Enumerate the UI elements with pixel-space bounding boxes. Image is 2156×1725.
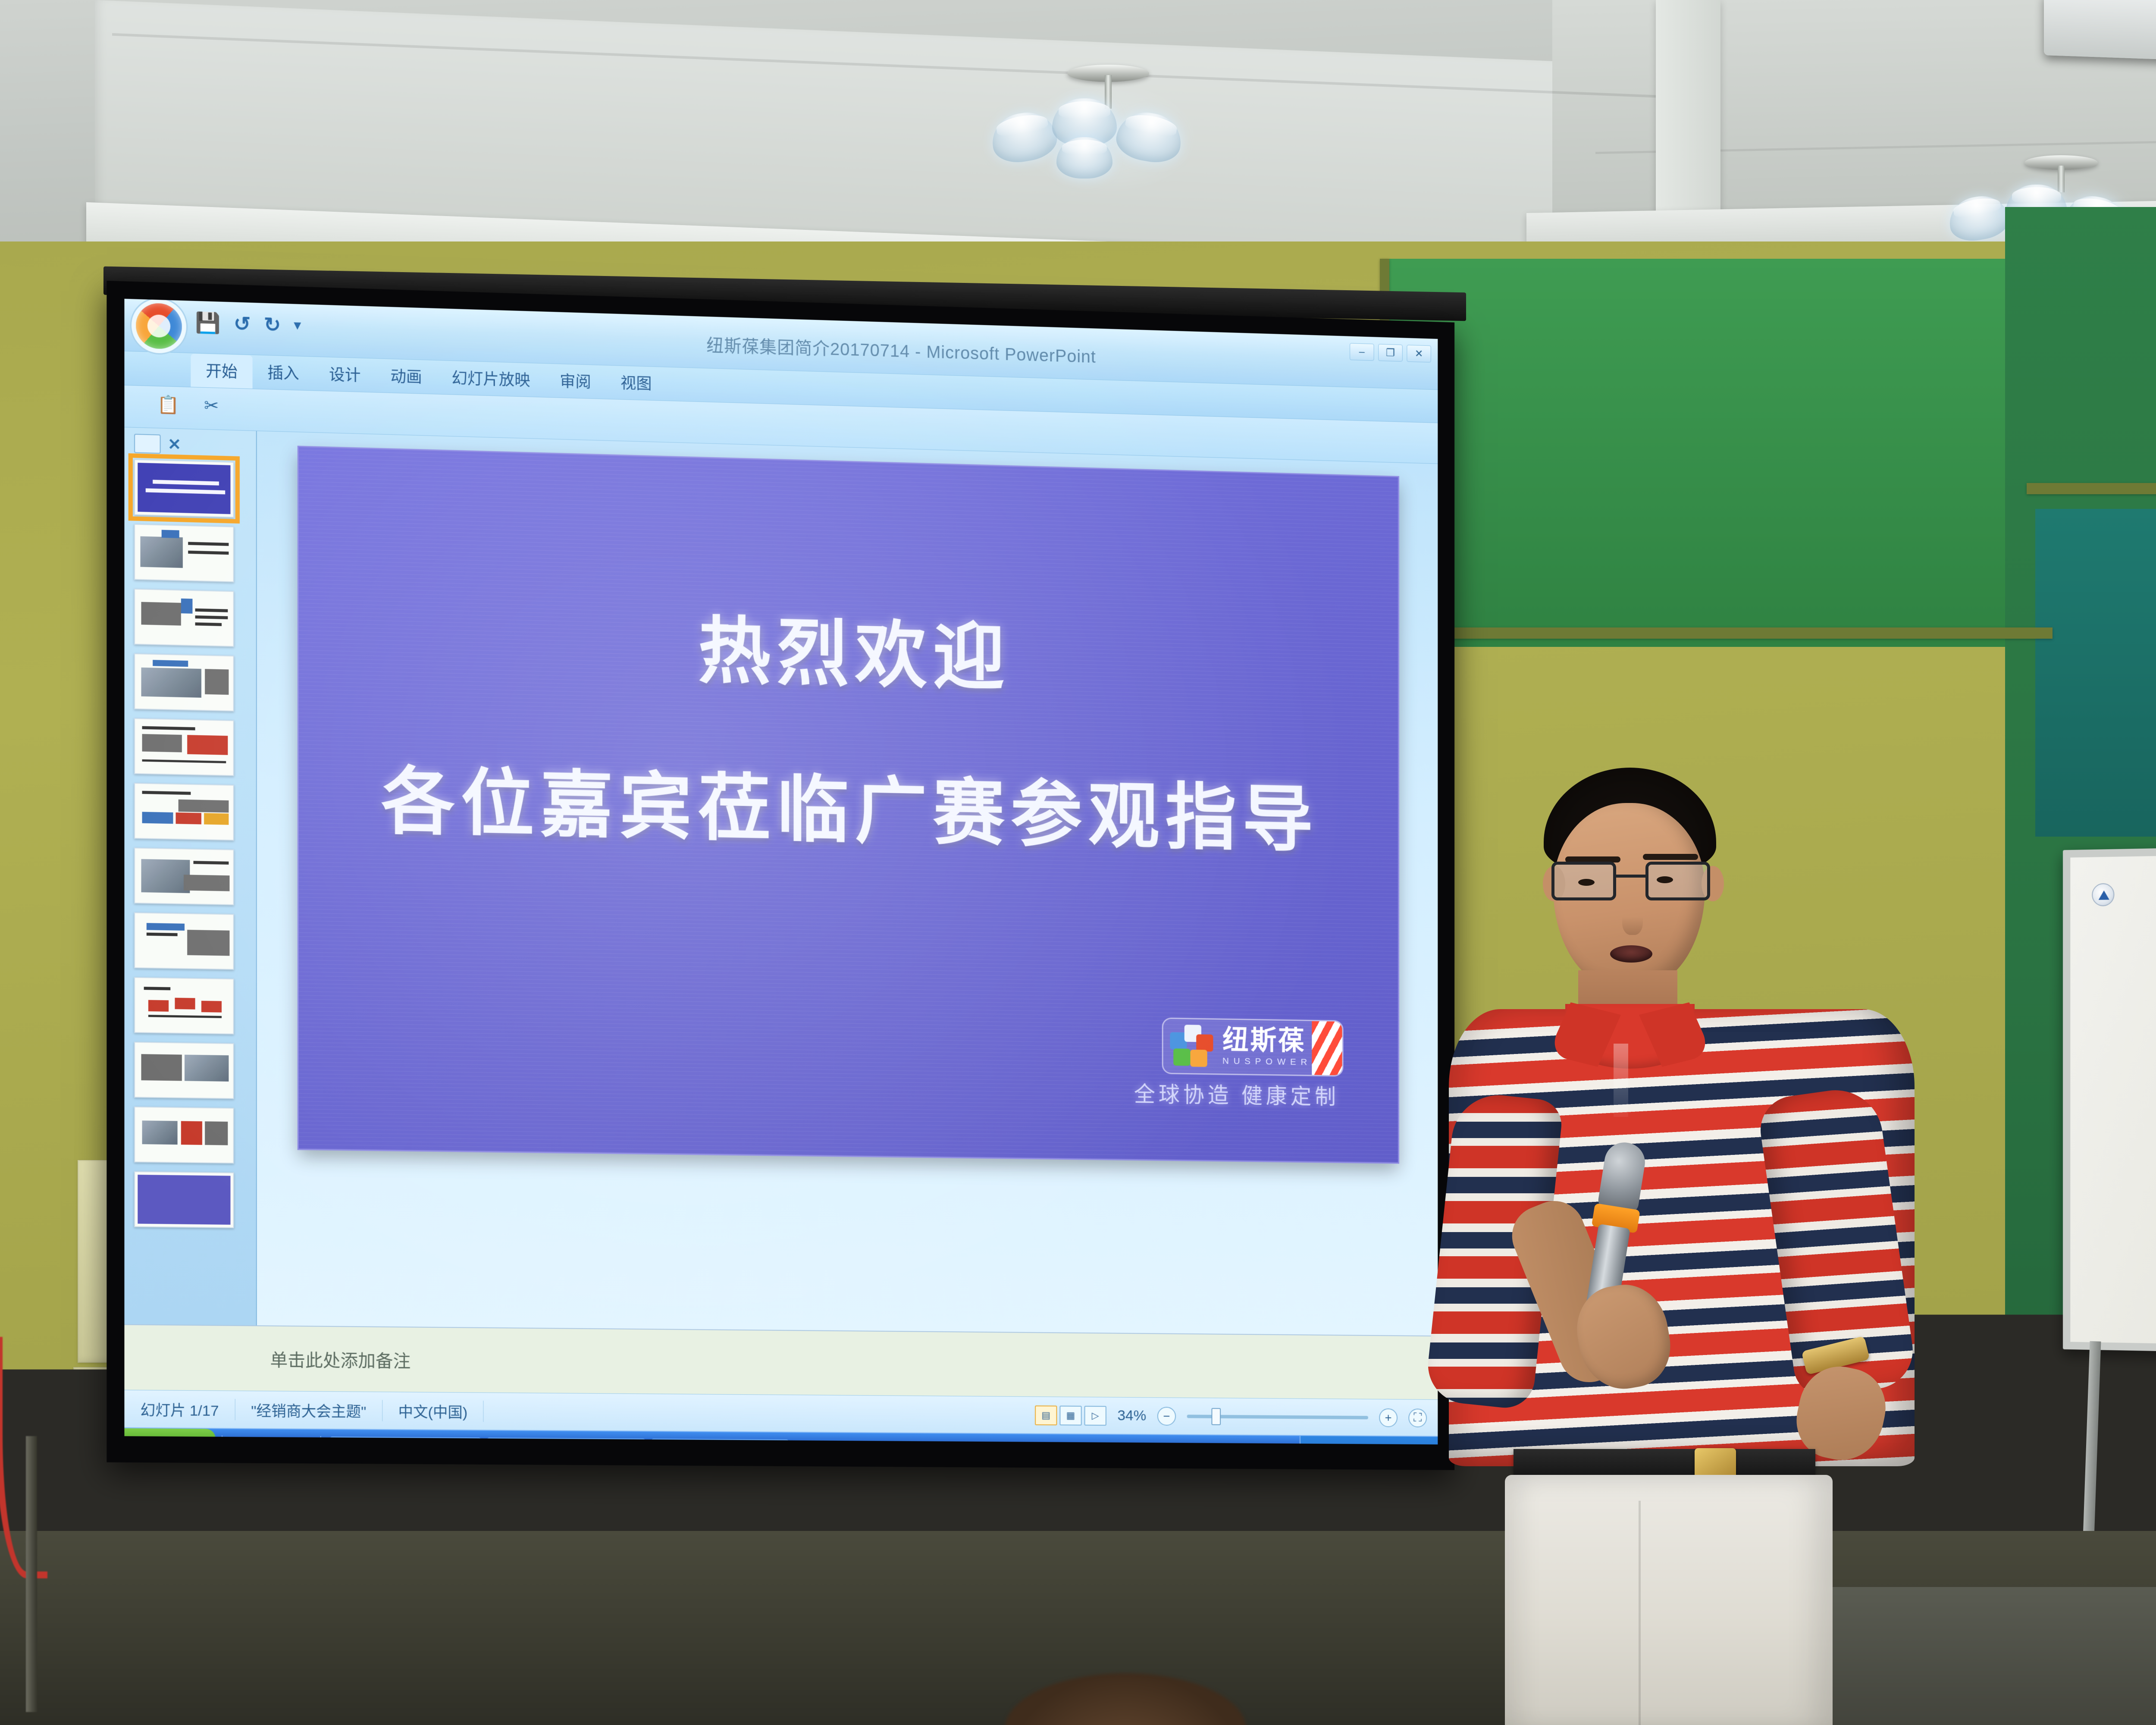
zoom-out-button[interactable]: − [1157,1407,1176,1426]
tab-review[interactable]: 审阅 [545,364,606,398]
taskbar-items: 阿里旺旺 - 主会场 Microsoft PowerP... 搜狗输入法设置 [321,1436,789,1444]
foreground-stand-pole [26,1436,37,1712]
theme-name[interactable]: "经销商大会主题" [235,1399,382,1421]
logo-name-cn: 纽斯葆 [1222,1027,1312,1054]
slideshow-view-button[interactable]: ▷ [1084,1405,1106,1425]
show-desktop-icon[interactable] [261,1440,282,1444]
close-button[interactable]: ✕ [1407,345,1431,362]
presenter-brow-right [1643,854,1698,860]
thumbnail-slide-5[interactable] [134,718,234,776]
presenter-eye-right [1657,876,1673,883]
cut-icon[interactable]: ✂ [204,395,219,416]
presenter-shirt-collar [1565,1004,1695,1069]
taskbar-item-3[interactable]: 搜狗输入法设置 [651,1439,788,1445]
quick-launch-bar [222,1435,321,1444]
taskbar-item-1-icon [342,1443,360,1445]
sidebar-close-icon[interactable]: ✕ [168,435,181,454]
thumbnail-slide-6[interactable] [134,783,234,841]
internet-explorer-icon[interactable] [233,1440,254,1445]
whiteboard-sticker-icon [2092,883,2114,906]
logo-flag-icon [1312,1021,1343,1076]
tab-view[interactable]: 视图 [606,366,667,400]
slide-editing-area[interactable]: 热烈欢迎 各位嘉宾莅临广赛参观指导 纽斯葆 [257,431,1438,1336]
thumbnail-slide-12[interactable] [134,1171,234,1228]
start-button-label: 开始 [163,1437,198,1445]
windows-flag-icon [135,1441,155,1445]
powerpoint-body: ✕ [124,427,1438,1336]
tab-animations[interactable]: 动画 [376,359,437,394]
thumbnail-slide-3[interactable] [134,589,234,647]
presenter-nose [1622,905,1643,935]
puzzle-icon [1170,1025,1216,1068]
zoom-slider[interactable] [1187,1414,1368,1419]
taskbar-item-3-label: 搜狗输入法设置 [686,1443,777,1444]
media-player-icon[interactable] [289,1441,310,1445]
thumbnail-list [134,459,253,1229]
taskbar-item-1-label: 阿里旺旺 - 主会场 [366,1442,469,1445]
start-button[interactable]: 开始 [124,1428,215,1445]
whiteboard-surface[interactable] [2063,840,2156,1359]
projection-screen: 💾 ↺ ↻ ▾ 纽斯葆集团简介20170714 - Microsoft Powe… [107,281,1454,1470]
ceiling-light-left [987,65,1229,203]
thumbnail-slide-4[interactable] [134,653,234,712]
logo-name-en: NUSPOWER [1222,1056,1312,1068]
thumbnail-slide-10[interactable] [134,1042,234,1099]
thumbnail-slide-1[interactable] [134,459,234,518]
thumbnail-slide-11[interactable] [134,1107,234,1164]
ceiling-projector [2044,0,2156,61]
slide-heading-line2: 各位嘉宾莅临广赛参观指导 [299,740,1398,867]
window-controls: – ❐ ✕ [1350,343,1431,362]
thumbnail-slide-9[interactable] [134,977,234,1034]
slide-heading-line1: 热烈欢迎 [299,582,1398,713]
presenter [1436,768,1945,1725]
status-bar-right: ▤ ▦ ▷ 34% − + ⛶ [1035,1405,1438,1428]
zoom-slider-handle[interactable] [1211,1408,1221,1425]
notes-placeholder: 单击此处添加备注 [270,1346,411,1372]
foreground-cable [0,1337,47,1578]
company-logo: 纽斯葆 NUSPOWER [1162,1017,1344,1076]
wall-panel-teal-1 [2035,509,2156,837]
system-tray: 10:17 [1300,1436,1438,1445]
thumbnail-slide-2[interactable] [134,524,234,583]
photo-scene: 休息室 Lounge 💾 ↺ ↻ [0,0,2156,1725]
thumbnail-slide-7[interactable] [134,847,234,905]
taskbar-item-2-icon [498,1443,516,1445]
presenter-trousers [1505,1475,1833,1725]
zoom-level: 34% [1117,1407,1146,1424]
language-indicator[interactable]: 中文(中国) [382,1400,484,1422]
paste-icon[interactable]: 📋 [157,394,179,415]
whiteboard [2057,845,2156,1397]
logo-tagline: 全球协造 健康定制 [1134,1077,1339,1110]
taskbar-item-2[interactable]: Microsoft PowerP... [487,1438,645,1445]
fit-to-window-button[interactable]: ⛶ [1408,1408,1427,1427]
presenter-shirt-placket [1614,1044,1628,1117]
sidebar-tabs: ✕ [134,434,253,456]
presenter-mouth [1610,945,1652,963]
sidebar-tab-slides[interactable] [134,434,161,454]
slide-sorter-button[interactable]: ▦ [1059,1405,1081,1425]
slide-counter: 幻灯片 1/17 [124,1398,235,1420]
minimize-button[interactable]: – [1350,343,1374,361]
presenter-eye-left [1578,879,1595,886]
taskbar-item-1[interactable]: 阿里旺旺 - 主会场 [330,1436,481,1444]
powerpoint-window: 💾 ↺ ↻ ▾ 纽斯葆集团简介20170714 - Microsoft Powe… [124,299,1438,1445]
tab-home[interactable]: 开始 [191,354,252,389]
tab-slideshow[interactable]: 幻灯片放映 [437,361,545,397]
current-slide[interactable]: 热烈欢迎 各位嘉宾莅临广赛参观指导 纽斯葆 [299,447,1398,1163]
presenter-eyeglasses [1551,862,1710,903]
tab-design[interactable]: 设计 [314,357,376,392]
notes-pane[interactable]: 单击此处添加备注 [124,1324,1438,1399]
zoom-in-button[interactable]: + [1379,1408,1398,1427]
slide-thumbnail-panel[interactable]: ✕ [124,427,257,1325]
thumbnail-slide-8[interactable] [134,912,234,970]
view-buttons: ▤ ▦ ▷ [1035,1405,1106,1426]
wall-trim-b [2027,483,2156,494]
tab-insert[interactable]: 插入 [253,355,314,390]
restore-button[interactable]: ❐ [1378,344,1402,361]
normal-view-button[interactable]: ▤ [1035,1405,1057,1425]
